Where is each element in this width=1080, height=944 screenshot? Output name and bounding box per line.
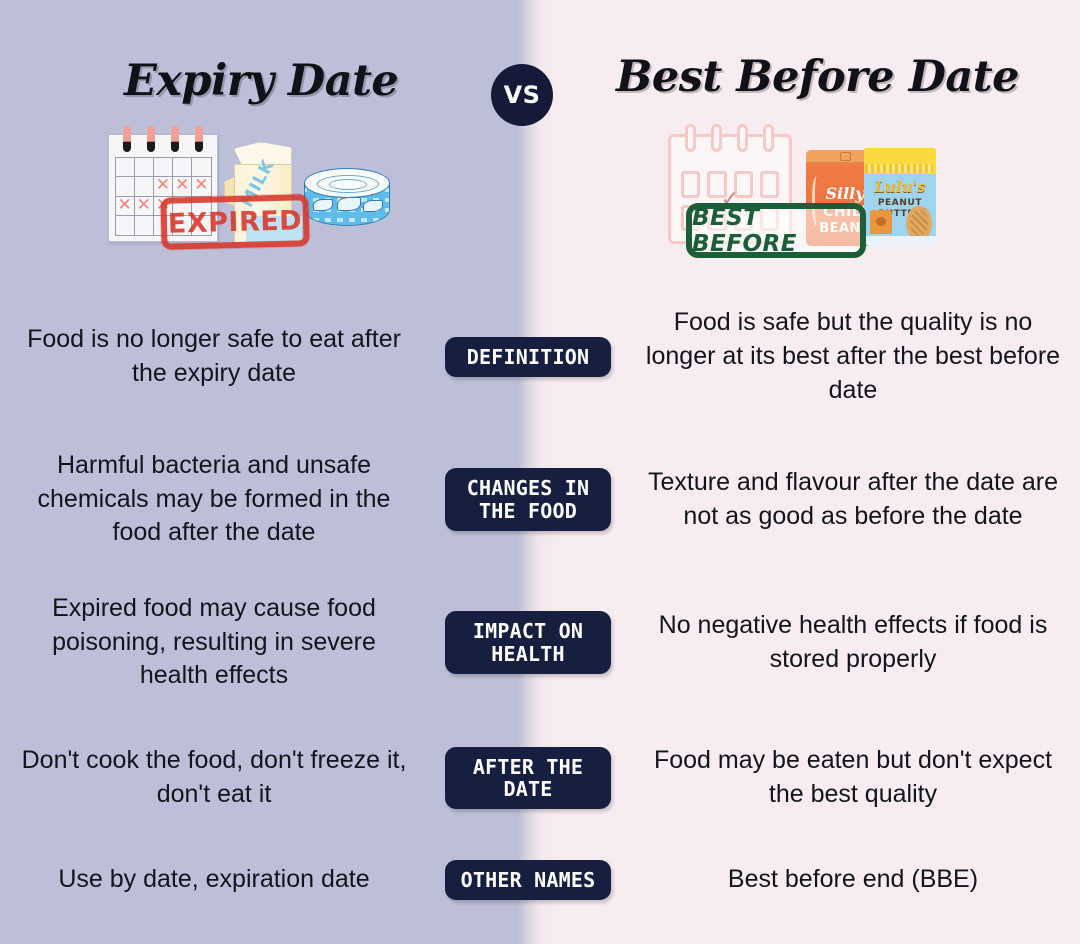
right-cell-definition: Food is safe but the quality is no longe… (626, 306, 1080, 407)
category-badge-impact-on-health: IMPACT ON HEALTH (445, 611, 611, 674)
expired-stamp: EXPIRED (160, 194, 309, 250)
comparison-row: Harmful bacteria and unsafe chemicals ma… (0, 442, 1080, 557)
right-cell-after-the-date: Food may be eaten but don't expect the b… (626, 744, 1080, 812)
peanut-butter-line1-label: PEANUT (864, 198, 936, 208)
left-cell-other-names: Use by date, expiration date (0, 863, 430, 897)
peanut-butter-brand-label: Lulu's (864, 178, 936, 196)
category-badge-definition: DEFINITION (445, 337, 611, 377)
infographic-page: Expiry Date Best Before Date VS ✕✕✕ ✕✕✕ … (0, 0, 1080, 944)
left-cell-definition: Food is no longer safe to eat after the … (0, 323, 430, 391)
category-badge-after-the-date: AFTER THE DATE (445, 747, 611, 810)
left-column-title: Expiry Date (124, 56, 398, 106)
right-column-title: Best Before Date (616, 52, 1019, 102)
expired-stamp-label: EXPIRED (167, 205, 302, 240)
category-badge-changes-in-the-food: CHANGES IN THE FOOD (445, 468, 611, 531)
left-cell-changes-in-the-food: Harmful bacteria and unsafe chemicals ma… (0, 449, 430, 550)
best-before-stamp-label: BEST BEFORE (692, 205, 860, 257)
left-cell-impact-on-health: Expired food may cause food poisoning, r… (0, 592, 430, 693)
left-cell-after-the-date: Don't cook the food, don't freeze it, do… (0, 744, 430, 812)
right-cell-impact-on-health: No negative health effects if food is st… (626, 609, 1080, 677)
best-before-stamp: BEST BEFORE (686, 203, 866, 258)
comparison-row: Don't cook the food, don't freeze it, do… (0, 728, 1080, 828)
peanut-butter-jar-icon: Lulu's PEANUT BUTTER (864, 148, 936, 246)
tuna-can-icon (304, 168, 390, 234)
vs-badge: VS (491, 64, 553, 126)
right-cell-other-names: Best before end (BBE) (626, 863, 1080, 897)
comparison-row: Food is no longer safe to eat after the … (0, 302, 1080, 412)
comparison-row: Expired food may cause food poisoning, r… (0, 585, 1080, 700)
vs-badge-label: VS (504, 81, 541, 109)
right-cell-changes-in-the-food: Texture and flavour after the date are n… (626, 466, 1080, 534)
comparison-row: Use by date, expiration date OTHER NAMES… (0, 850, 1080, 910)
category-badge-other-names: OTHER NAMES (445, 860, 611, 900)
